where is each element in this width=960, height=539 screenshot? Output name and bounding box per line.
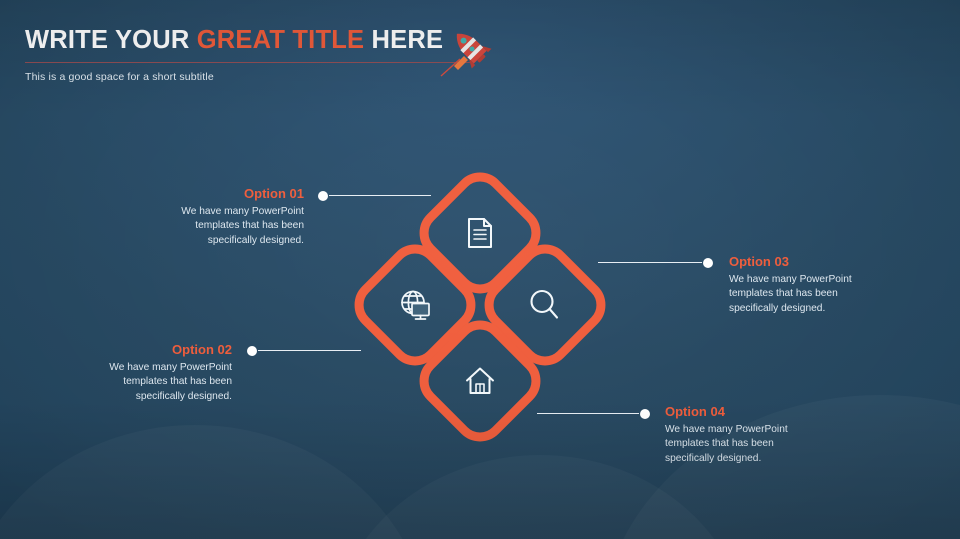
title-text-part-1: WRITE YOUR <box>25 26 197 54</box>
connector-line <box>329 195 431 196</box>
option-block-04[interactable]: Option 04 We have many PowerPoint templa… <box>665 404 825 466</box>
search-icon <box>532 291 558 318</box>
connector-line <box>537 413 639 414</box>
document-icon <box>469 219 491 247</box>
connector-option-04 <box>537 408 650 419</box>
title-text-part-2: HERE <box>364 26 443 54</box>
page-subtitle: This is a good space for a short subtitl… <box>25 71 495 83</box>
background-hill-middle <box>330 455 750 539</box>
slide-header: WRITE YOUR GREAT TITLE HERE This is a go… <box>25 26 495 83</box>
option-title-04: Option 04 <box>665 404 825 420</box>
option-body-01: We have many PowerPoint templates that h… <box>155 205 304 248</box>
petal-top <box>415 168 545 298</box>
petal-bottom <box>415 316 545 446</box>
title-text-accent: GREAT TITLE <box>197 26 364 54</box>
connector-option-01 <box>318 190 431 201</box>
connector-line <box>598 262 702 263</box>
option-title-03: Option 03 <box>729 254 889 270</box>
option-body-03: We have many PowerPoint templates that h… <box>729 273 889 316</box>
connector-dot <box>640 409 650 419</box>
connector-dot <box>703 258 713 268</box>
option-block-01[interactable]: Option 01 We have many PowerPoint templa… <box>155 186 304 248</box>
page-title: WRITE YOUR GREAT TITLE HERE <box>25 26 495 55</box>
option-body-02: We have many PowerPoint templates that h… <box>84 361 232 404</box>
slide-canvas: WRITE YOUR GREAT TITLE HERE This is a go… <box>0 0 960 539</box>
option-body-04: We have many PowerPoint templates that h… <box>665 423 825 466</box>
connector-dot <box>318 191 328 201</box>
option-title-02: Option 02 <box>84 342 232 358</box>
connector-option-03 <box>598 257 713 268</box>
globe-monitor-icon <box>402 292 429 320</box>
connector-line <box>258 350 361 351</box>
petal-right <box>480 240 610 370</box>
connector-option-02 <box>247 345 361 356</box>
title-divider <box>25 62 470 63</box>
option-block-02[interactable]: Option 02 We have many PowerPoint templa… <box>84 342 232 404</box>
home-icon <box>467 369 493 394</box>
option-block-03[interactable]: Option 03 We have many PowerPoint templa… <box>729 254 889 316</box>
option-title-01: Option 01 <box>155 186 304 202</box>
connector-dot <box>247 346 257 356</box>
